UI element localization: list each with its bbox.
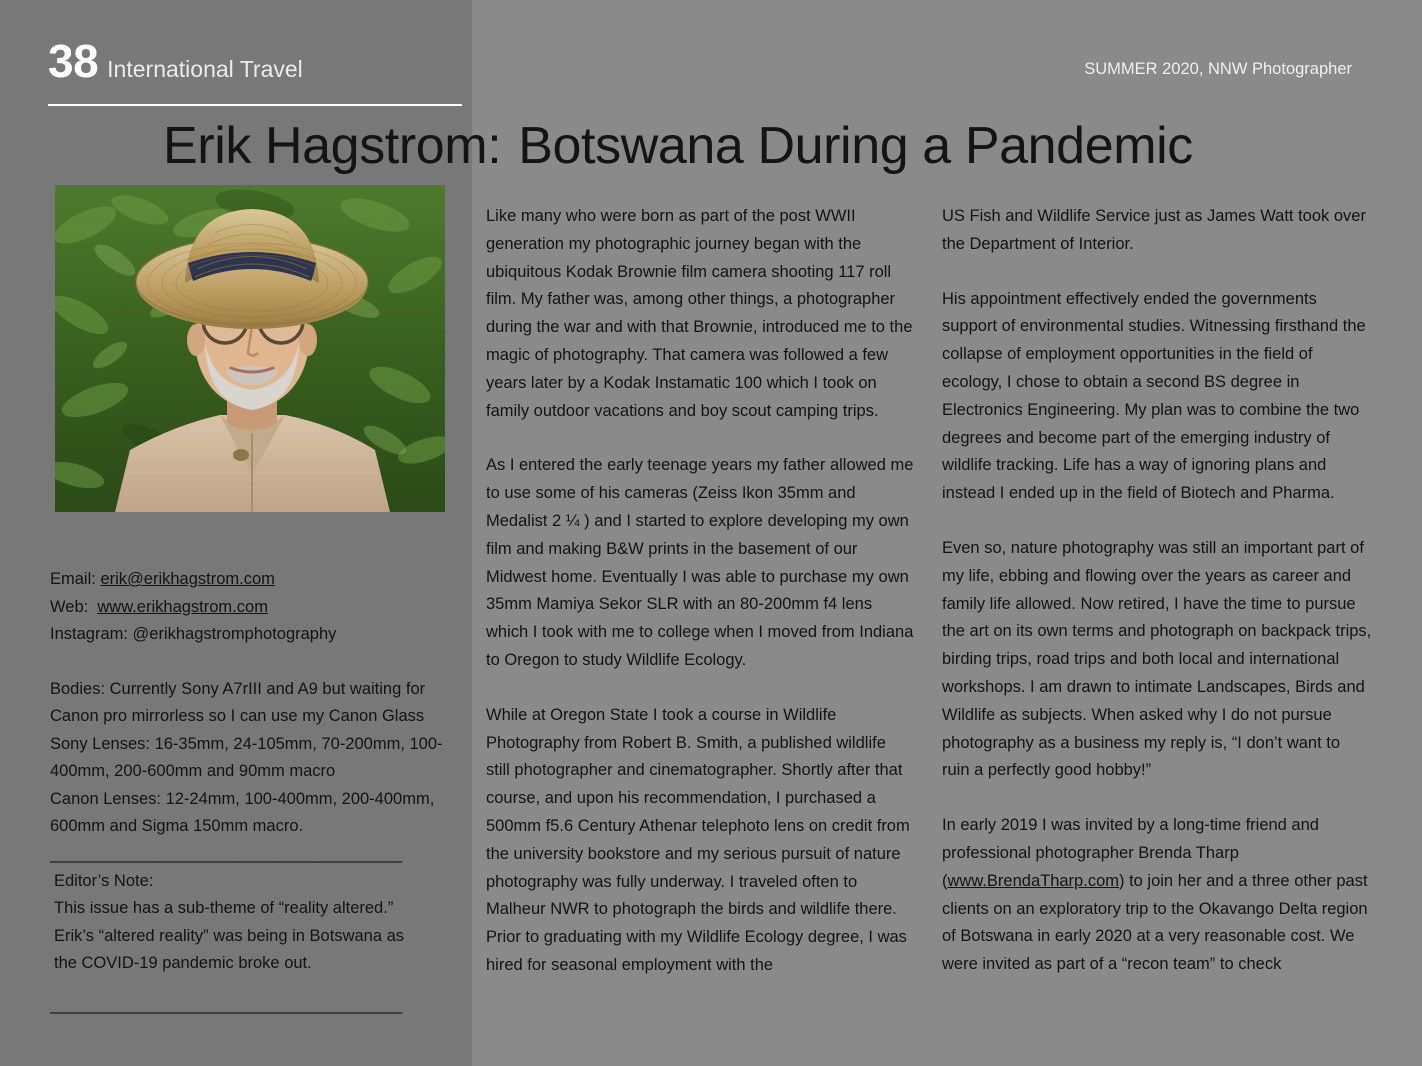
paragraph: While at Oregon State I took a course in…: [486, 702, 914, 980]
brenda-tharp-link[interactable]: www.BrendaTharp.com: [948, 872, 1120, 890]
editor-note-line-1: This issue has a sub-theme of “reality a…: [50, 895, 454, 923]
page-title: Erik Hagstrom:Botswana During a Pandemic: [163, 118, 1193, 174]
spacer-2: [50, 978, 454, 992]
paragraph: His appointment effectively ended the go…: [942, 286, 1372, 508]
email-link[interactable]: erik@erikhagstrom.com: [100, 570, 274, 588]
email-label: Email:: [50, 570, 96, 588]
body-column-middle: Like many who were born as part of the p…: [486, 203, 914, 1007]
author-info-block: Email: erik@erikhagstrom.com Web: www.er…: [50, 566, 454, 1019]
web-label: Web:: [50, 598, 88, 616]
editor-note: Editor’s Note: This issue has a sub-them…: [50, 868, 454, 978]
masthead-line: 38 International Travel: [48, 38, 468, 84]
paragraph: Like many who were born as part of the p…: [486, 203, 914, 425]
web-link[interactable]: www.erikhagstrom.com: [97, 598, 268, 616]
article-byline: Erik Hagstrom:: [163, 117, 501, 175]
masthead: 38 International Travel: [48, 38, 468, 84]
body-column-right: US Fish and Wildlife Service just as Jam…: [942, 203, 1372, 1006]
paragraph: US Fish and Wildlife Service just as Jam…: [942, 203, 1372, 259]
section-name: International Travel: [107, 58, 303, 81]
magazine-page: 38 International Travel SUMMER 2020, NNW…: [0, 0, 1422, 1066]
editor-note-line-3: the COVID-19 pandemic broke out.: [50, 950, 454, 978]
issue-info: SUMMER 2020, NNW Photographer: [1084, 60, 1352, 79]
email-row: Email: erik@erikhagstrom.com: [50, 566, 454, 594]
masthead-divider: [48, 104, 462, 106]
editor-note-divider-bottom: ________________________________________…: [50, 992, 454, 1019]
paragraph: Even so, nature photography was still an…: [942, 535, 1372, 785]
gear-sony-lenses: Sony Lenses: 16-35mm, 24-105mm, 70-200mm…: [50, 731, 454, 786]
instagram-handle: @erikhagstromphotography: [133, 625, 337, 643]
editor-note-line-2: Erik’s “altered reality” was being in Bo…: [50, 923, 454, 951]
article-title: Botswana During a Pandemic: [518, 117, 1193, 175]
gear-canon-lenses: Canon Lenses: 12-24mm, 100-400mm, 200-40…: [50, 786, 454, 841]
paragraph: As I entered the early teenage years my …: [486, 452, 914, 674]
paragraph-with-link: In early 2019 I was invited by a long-ti…: [942, 812, 1372, 979]
gear-bodies: Bodies: Currently Sony A7rIII and A9 but…: [50, 676, 454, 731]
author-portrait-photo: [55, 185, 445, 512]
editor-note-divider-top: ________________________________________…: [50, 841, 454, 868]
portrait-illustration: [55, 185, 445, 512]
page-number: 38: [48, 38, 98, 84]
spacer: [50, 649, 454, 676]
instagram-label: Instagram:: [50, 625, 128, 643]
web-row: Web: www.erikhagstrom.com: [50, 594, 454, 622]
editor-note-heading: Editor’s Note:: [50, 868, 454, 896]
instagram-row: Instagram: @erikhagstromphotography: [50, 621, 454, 649]
gear-list: Bodies: Currently Sony A7rIII and A9 but…: [50, 676, 454, 841]
